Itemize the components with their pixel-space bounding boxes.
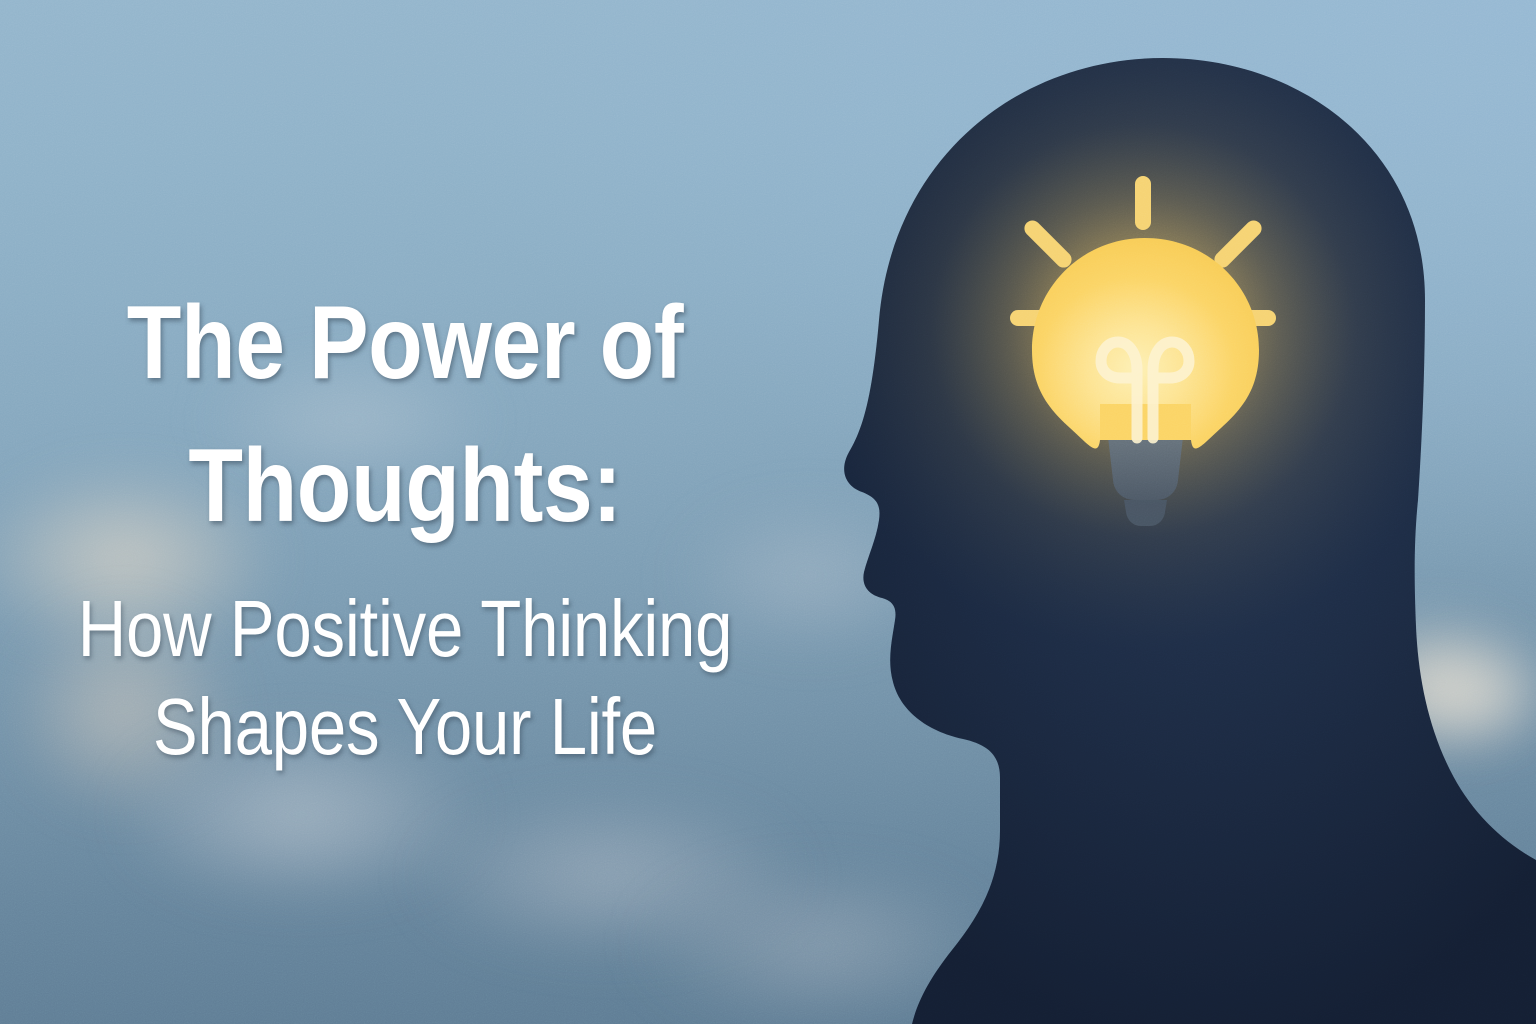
subtitle-line-1: How Positive Thinking [65,580,745,678]
title-line-2: Thoughts: [57,415,754,558]
page-title: The Power of Thoughts: [0,272,810,558]
page-subtitle: How Positive Thinking Shapes Your Life [0,580,810,776]
title-line-1: The Power of [57,272,754,415]
poster-canvas: The Power of Thoughts: How Positive Thin… [0,0,1536,1024]
subtitle-line-2: Shapes Your Life [65,678,745,776]
headline-block: The Power of Thoughts: How Positive Thin… [0,272,810,776]
